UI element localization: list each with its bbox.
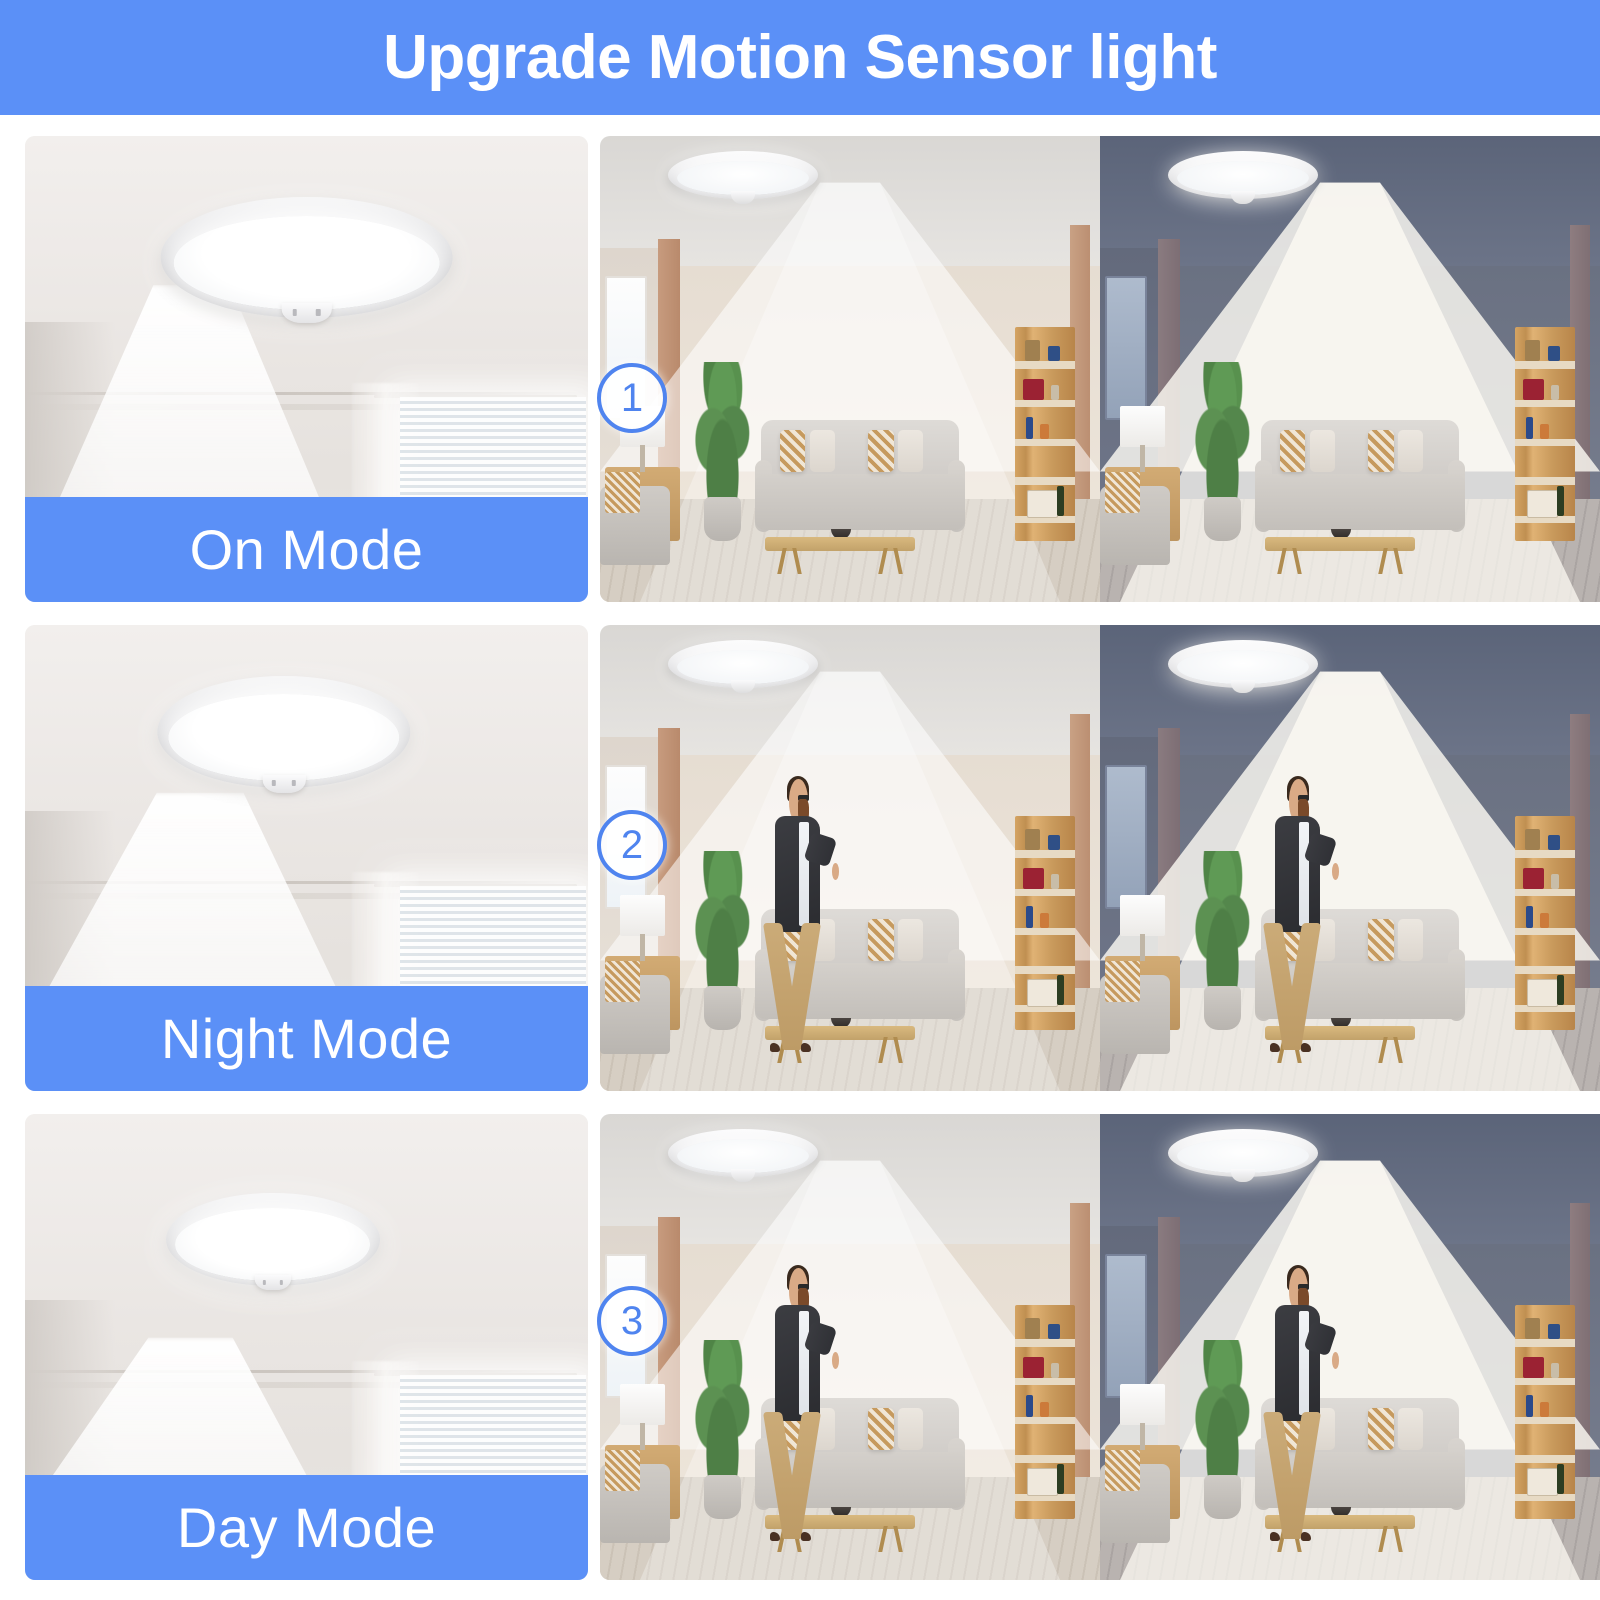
table-leg <box>893 1037 902 1063</box>
mode-label-band: Night Mode <box>25 986 588 1091</box>
lamp-stand <box>640 1423 645 1449</box>
plant-foliage <box>690 1340 755 1481</box>
mode-label: Night Mode <box>161 1011 452 1067</box>
shelf-board <box>1015 1417 1075 1425</box>
plant-pot <box>704 497 740 542</box>
shelving-unit <box>1015 327 1075 541</box>
fixture-rim <box>1168 151 1318 199</box>
shelf-board <box>1515 966 1575 974</box>
plant-pot <box>1204 497 1240 542</box>
ceiling-light-fixture <box>157 676 410 788</box>
shelving-unit <box>1515 327 1575 541</box>
lamp-shade <box>1120 406 1165 446</box>
motion-sensor-module <box>262 775 305 793</box>
walking-man <box>755 1268 840 1557</box>
lamp-stand <box>1140 1423 1145 1449</box>
plant-pot <box>704 1475 740 1520</box>
fixture-rim <box>668 151 818 199</box>
shelf-book <box>1051 874 1059 889</box>
shelf-bottle-blue <box>1526 906 1533 927</box>
sofa-pillow-patterned <box>1280 430 1305 472</box>
motion-sensor-module <box>1231 1169 1255 1181</box>
shelf-bottle-blue <box>1026 1395 1033 1416</box>
table-leg <box>1378 548 1387 574</box>
day-mode-product-panel: Day Mode <box>25 1114 588 1580</box>
lamp-stand <box>1140 445 1145 471</box>
ceiling-light-fixture <box>1168 151 1432 237</box>
mode-label-band: On Mode <box>25 497 588 602</box>
shelf-bottle-green <box>1557 1464 1564 1494</box>
shelf-bottle-green <box>1557 486 1564 516</box>
shelf-vase <box>1525 340 1541 361</box>
window <box>1105 1254 1147 1398</box>
shelf-board <box>1015 850 1075 858</box>
shelf-jar <box>1540 913 1548 928</box>
shelf-book <box>1051 385 1059 400</box>
person-hand <box>832 1352 840 1369</box>
lamp-stand <box>640 934 645 960</box>
shelf-board <box>1015 361 1075 369</box>
table-leg <box>1378 1037 1387 1063</box>
motion-sensor-module <box>1231 680 1255 692</box>
infographic-page: Upgrade Motion Sensor light <box>0 0 1600 1600</box>
shelf-board <box>1515 1417 1575 1425</box>
shelf-bottle-blue <box>1026 906 1033 927</box>
fixture-diffuser <box>175 1208 370 1281</box>
ceiling-light-fixture <box>668 151 932 237</box>
shelf-board <box>1015 966 1075 974</box>
armchair-pillow <box>605 961 640 1003</box>
shelf-bowl <box>1548 1324 1560 1339</box>
armchair-pillow <box>1105 961 1140 1003</box>
shelf-vase <box>1025 340 1041 361</box>
person-shoe-front <box>1301 1043 1311 1052</box>
mode-row-day: Day Mode <box>0 1114 1600 1582</box>
sofa-pillow-patterned <box>1368 1408 1393 1450</box>
person-legs <box>1275 923 1322 1050</box>
shelf-board <box>1515 928 1575 936</box>
potted-plant <box>690 369 755 541</box>
shelf-bowl <box>1048 835 1060 850</box>
step-badge-number: 3 <box>621 1301 643 1341</box>
fixture-diffuser <box>173 216 439 311</box>
shelf-bottle-green <box>1057 975 1064 1005</box>
shelf-book <box>1551 874 1559 889</box>
plant-foliage <box>690 851 755 992</box>
fixture-rim <box>1168 1129 1318 1177</box>
person-shirt <box>799 822 809 926</box>
shelf-box-red <box>1023 1357 1043 1378</box>
lamp-shade <box>620 1384 665 1424</box>
coffee-table <box>1265 537 1415 574</box>
fixture-diffuser <box>677 161 809 196</box>
table-leg <box>878 1526 887 1552</box>
shelf-board <box>1515 1339 1575 1347</box>
shelf-basket <box>1527 979 1558 1007</box>
mode-row-night: Night Mode <box>0 625 1600 1093</box>
person-shoe-front <box>801 1043 811 1052</box>
person-legs <box>775 1412 822 1539</box>
motion-sensor-module <box>731 680 755 692</box>
ceiling-light-fixture <box>166 1193 380 1286</box>
sofa-seat <box>755 474 965 530</box>
fixture-rim <box>668 640 818 688</box>
potted-plant <box>690 1347 755 1519</box>
sofa-pillow-plain <box>898 1408 923 1450</box>
table-lamp <box>620 1384 665 1449</box>
fixture-diffuser <box>169 694 400 781</box>
ceiling-light-fixture <box>668 1129 932 1215</box>
motion-sensor-module <box>731 191 755 203</box>
table-leg <box>878 1037 887 1063</box>
plant-foliage <box>1190 362 1255 503</box>
person-shoe-back <box>770 1043 780 1052</box>
plant-pot <box>704 986 740 1031</box>
shelf-book <box>1551 1363 1559 1378</box>
fixture-diffuser <box>1177 1139 1309 1174</box>
shelf-board <box>1015 1378 1075 1386</box>
shelf-jar <box>1040 1402 1048 1417</box>
armchair-pillow <box>1105 1450 1140 1492</box>
step-badge-number: 2 <box>621 825 643 865</box>
lamp-stand <box>1140 934 1145 960</box>
shelf-vase <box>1025 1318 1041 1339</box>
plant-pot <box>1204 986 1240 1031</box>
fixture-rim <box>1168 640 1318 688</box>
shelf-board <box>1515 850 1575 858</box>
lamp-stand <box>640 445 645 471</box>
mode-row-on: On Mode <box>0 136 1600 604</box>
shelf-vase <box>1525 829 1541 850</box>
night-mode-product-panel: Night Mode <box>25 625 588 1091</box>
fixture-diffuser <box>677 1139 809 1174</box>
window <box>1105 276 1147 420</box>
plant-pot <box>1204 1475 1240 1520</box>
lamp-shade <box>1120 1384 1165 1424</box>
page-title: Upgrade Motion Sensor light <box>383 27 1217 89</box>
person-shirt <box>1299 1311 1309 1415</box>
shelf-bottle-blue <box>1526 1395 1533 1416</box>
mode-label-band: Day Mode <box>25 1475 588 1580</box>
table-leg <box>792 548 801 574</box>
fixture-diffuser <box>1177 161 1309 196</box>
person-hand <box>1332 1352 1340 1369</box>
sofa-pillow-patterned <box>1368 430 1393 472</box>
person-shirt <box>799 1311 809 1415</box>
mode-label: On Mode <box>190 522 424 578</box>
shelving-unit <box>1515 816 1575 1030</box>
shelf-bowl <box>1548 346 1560 361</box>
armchair-pillow <box>1105 472 1140 514</box>
sofa-pillow-patterned <box>868 919 893 961</box>
sofa-pillow-plain <box>1398 430 1423 472</box>
shelf-bowl <box>1048 1324 1060 1339</box>
ceiling-light-fixture <box>160 197 453 318</box>
table-leg <box>893 1526 902 1552</box>
shelf-vase <box>1525 1318 1541 1339</box>
person-shoe-back <box>1270 1043 1280 1052</box>
shelf-board <box>1015 1455 1075 1463</box>
person-hand <box>832 863 840 880</box>
person-legs <box>1275 1412 1322 1539</box>
motion-sensor-module <box>1231 191 1255 203</box>
armchair-pillow <box>605 1450 640 1492</box>
shelf-box-red <box>1523 379 1543 400</box>
shelf-box-red <box>1523 1357 1543 1378</box>
table-leg <box>893 548 902 574</box>
table-lamp <box>1120 1384 1165 1449</box>
fixture-rim <box>157 676 410 788</box>
shelf-board <box>1015 400 1075 408</box>
sofa <box>1255 420 1465 537</box>
shelf-board <box>1515 1455 1575 1463</box>
potted-plant <box>690 858 755 1030</box>
shelving-unit <box>1015 816 1075 1030</box>
shelf-bottle-green <box>1057 1464 1064 1494</box>
fixture-rim <box>160 197 453 318</box>
table-lamp <box>1120 406 1165 471</box>
sofa-pillow-patterned <box>1368 919 1393 961</box>
shelf-bowl <box>1548 835 1560 850</box>
step-badge-number: 1 <box>621 378 643 418</box>
potted-plant <box>1190 858 1255 1030</box>
shelf-bottle-blue <box>1026 417 1033 438</box>
fixture-rim <box>668 1129 818 1177</box>
sofa-pillow-patterned <box>868 1408 893 1450</box>
lamp-shade <box>1120 895 1165 935</box>
sofa-pillow-patterned <box>868 430 893 472</box>
shelf-box-red <box>1023 868 1043 889</box>
shelf-basket <box>1027 1468 1058 1496</box>
potted-plant <box>1190 369 1255 541</box>
table-leg <box>777 548 786 574</box>
shelf-jar <box>1040 913 1048 928</box>
table-lamp <box>620 895 665 960</box>
sofa-pillow-plain <box>1398 919 1423 961</box>
coffee-table <box>765 537 915 574</box>
ceiling-light-fixture <box>1168 1129 1432 1215</box>
shelving-unit <box>1015 1305 1075 1519</box>
step-badge-2: 2 <box>597 810 667 880</box>
mode-rows-container: On Mode <box>0 136 1600 1600</box>
shelf-board <box>1515 400 1575 408</box>
shelving-unit <box>1515 1305 1575 1519</box>
person-shoe-front <box>801 1532 811 1541</box>
shelf-basket <box>1527 490 1558 518</box>
step-badge-3: 3 <box>597 1286 667 1356</box>
shelf-board <box>1515 1378 1575 1386</box>
table-leg <box>1393 548 1402 574</box>
shelf-bottle-blue <box>1526 417 1533 438</box>
sofa-pillow-plain <box>898 430 923 472</box>
shelf-board <box>1515 439 1575 447</box>
shelf-basket <box>1027 979 1058 1007</box>
table-leg <box>1378 1526 1387 1552</box>
table-leg <box>1277 548 1286 574</box>
shelf-basket <box>1527 1468 1558 1496</box>
table-leg <box>1393 1037 1402 1063</box>
lamp-shade <box>620 895 665 935</box>
fixture-rim <box>166 1193 380 1286</box>
table-leg <box>1292 548 1301 574</box>
sofa-pillow-plain <box>898 919 923 961</box>
shelf-basket <box>1027 490 1058 518</box>
step-badge-1: 1 <box>597 363 667 433</box>
table-lamp <box>1120 895 1165 960</box>
person-shoe-back <box>1270 1532 1280 1541</box>
shelf-board <box>1015 477 1075 485</box>
sofa-seat <box>1255 474 1465 530</box>
shelf-board <box>1015 439 1075 447</box>
shelf-bottle-green <box>1557 975 1564 1005</box>
person-shoe-front <box>1301 1532 1311 1541</box>
shelf-board <box>1015 928 1075 936</box>
plant-foliage <box>1190 851 1255 992</box>
plant-foliage <box>690 362 755 503</box>
fixture-diffuser <box>1177 650 1309 685</box>
sofa-pillow-patterned <box>780 430 805 472</box>
sofa <box>755 420 965 537</box>
person-legs <box>775 923 822 1050</box>
person-shirt <box>1299 822 1309 926</box>
ceiling-light-fixture <box>668 640 932 726</box>
person-hand <box>1332 863 1340 880</box>
shelf-board <box>1015 1339 1075 1347</box>
potted-plant <box>1190 1347 1255 1519</box>
sofa-pillow-plain <box>810 430 835 472</box>
shelf-jar <box>1540 1402 1548 1417</box>
walking-man <box>755 779 840 1068</box>
table-leg <box>878 548 887 574</box>
page-header-banner: Upgrade Motion Sensor light <box>0 0 1600 115</box>
armchair-pillow <box>605 472 640 514</box>
shelf-board <box>1515 477 1575 485</box>
shelf-box-red <box>1023 379 1043 400</box>
shelf-book <box>1551 385 1559 400</box>
walking-man <box>1255 1268 1340 1557</box>
on-mode-product-panel: On Mode <box>25 136 588 602</box>
plant-foliage <box>1190 1340 1255 1481</box>
shelf-bottle-green <box>1057 486 1064 516</box>
shelf-board <box>1515 361 1575 369</box>
mode-label: Day Mode <box>177 1500 436 1556</box>
shelf-jar <box>1040 424 1048 439</box>
window <box>1105 765 1147 909</box>
shelf-box-red <box>1523 868 1543 889</box>
sofa-pillow-plain <box>1310 430 1335 472</box>
fixture-diffuser <box>677 650 809 685</box>
shelf-bowl <box>1048 346 1060 361</box>
sofa-pillow-plain <box>1398 1408 1423 1450</box>
person-shoe-back <box>770 1532 780 1541</box>
shelf-jar <box>1540 424 1548 439</box>
ceiling-light-fixture <box>1168 640 1432 726</box>
walking-man <box>1255 779 1340 1068</box>
motion-sensor-module <box>731 1169 755 1181</box>
table-leg <box>1393 1526 1402 1552</box>
shelf-vase <box>1025 829 1041 850</box>
shelf-book <box>1051 1363 1059 1378</box>
shelf-board <box>1515 889 1575 897</box>
shelf-board <box>1015 889 1075 897</box>
